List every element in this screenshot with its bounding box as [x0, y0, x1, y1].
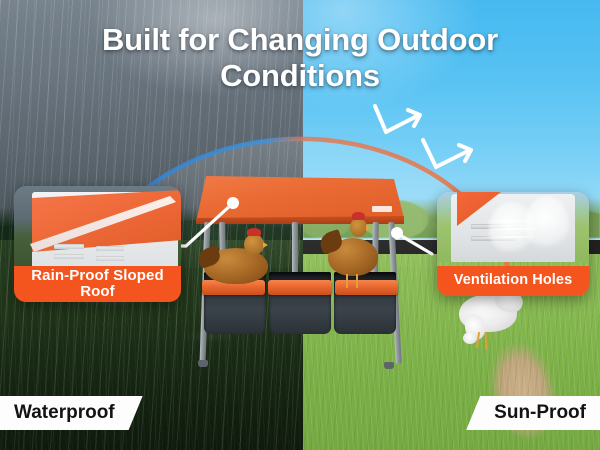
brown-hen-sitting — [204, 226, 272, 286]
badge-waterproof-label: Waterproof — [14, 402, 115, 424]
badge-sun-proof-label: Sun-Proof — [494, 402, 586, 424]
vent-slot — [96, 246, 124, 251]
title-line-2: Conditions — [0, 58, 600, 94]
airflow-puff — [525, 196, 569, 252]
callout-label-ventilation: Ventilation Holes — [437, 266, 589, 296]
vent-slot — [54, 254, 84, 259]
badge-waterproof: Waterproof — [0, 396, 143, 430]
perch-rail-segment — [268, 280, 331, 295]
page-title: Built for Changing Outdoor Conditions — [0, 22, 600, 94]
sloped-roof-closeup-image — [14, 186, 181, 268]
callout-ventilation-holes[interactable]: Ventilation Holes — [437, 192, 589, 296]
title-line-1: Built for Changing Outdoor — [0, 22, 600, 58]
frame-foot — [198, 360, 208, 367]
vent-slot — [96, 256, 124, 261]
frame-foot — [384, 362, 394, 369]
ventilation-closeup-image — [437, 192, 589, 262]
callout-label-text: Rain-Proof Sloped Roof — [20, 268, 175, 300]
brown-hen-standing — [324, 212, 386, 288]
callout-label-rain-proof: Rain-Proof Sloped Roof — [14, 266, 181, 302]
vent-slot — [54, 244, 84, 249]
callout-rain-proof-sloped-roof[interactable]: Rain-Proof Sloped Roof — [14, 186, 181, 302]
promo-image: Rain-Proof Sloped Roof Ventilation Holes… — [0, 0, 600, 450]
white-hen-foraging — [451, 292, 523, 352]
callout-label-text: Ventilation Holes — [454, 273, 573, 289]
badge-sun-proof: Sun-Proof — [466, 396, 600, 430]
chicken-nesting-box-product — [196, 176, 404, 366]
